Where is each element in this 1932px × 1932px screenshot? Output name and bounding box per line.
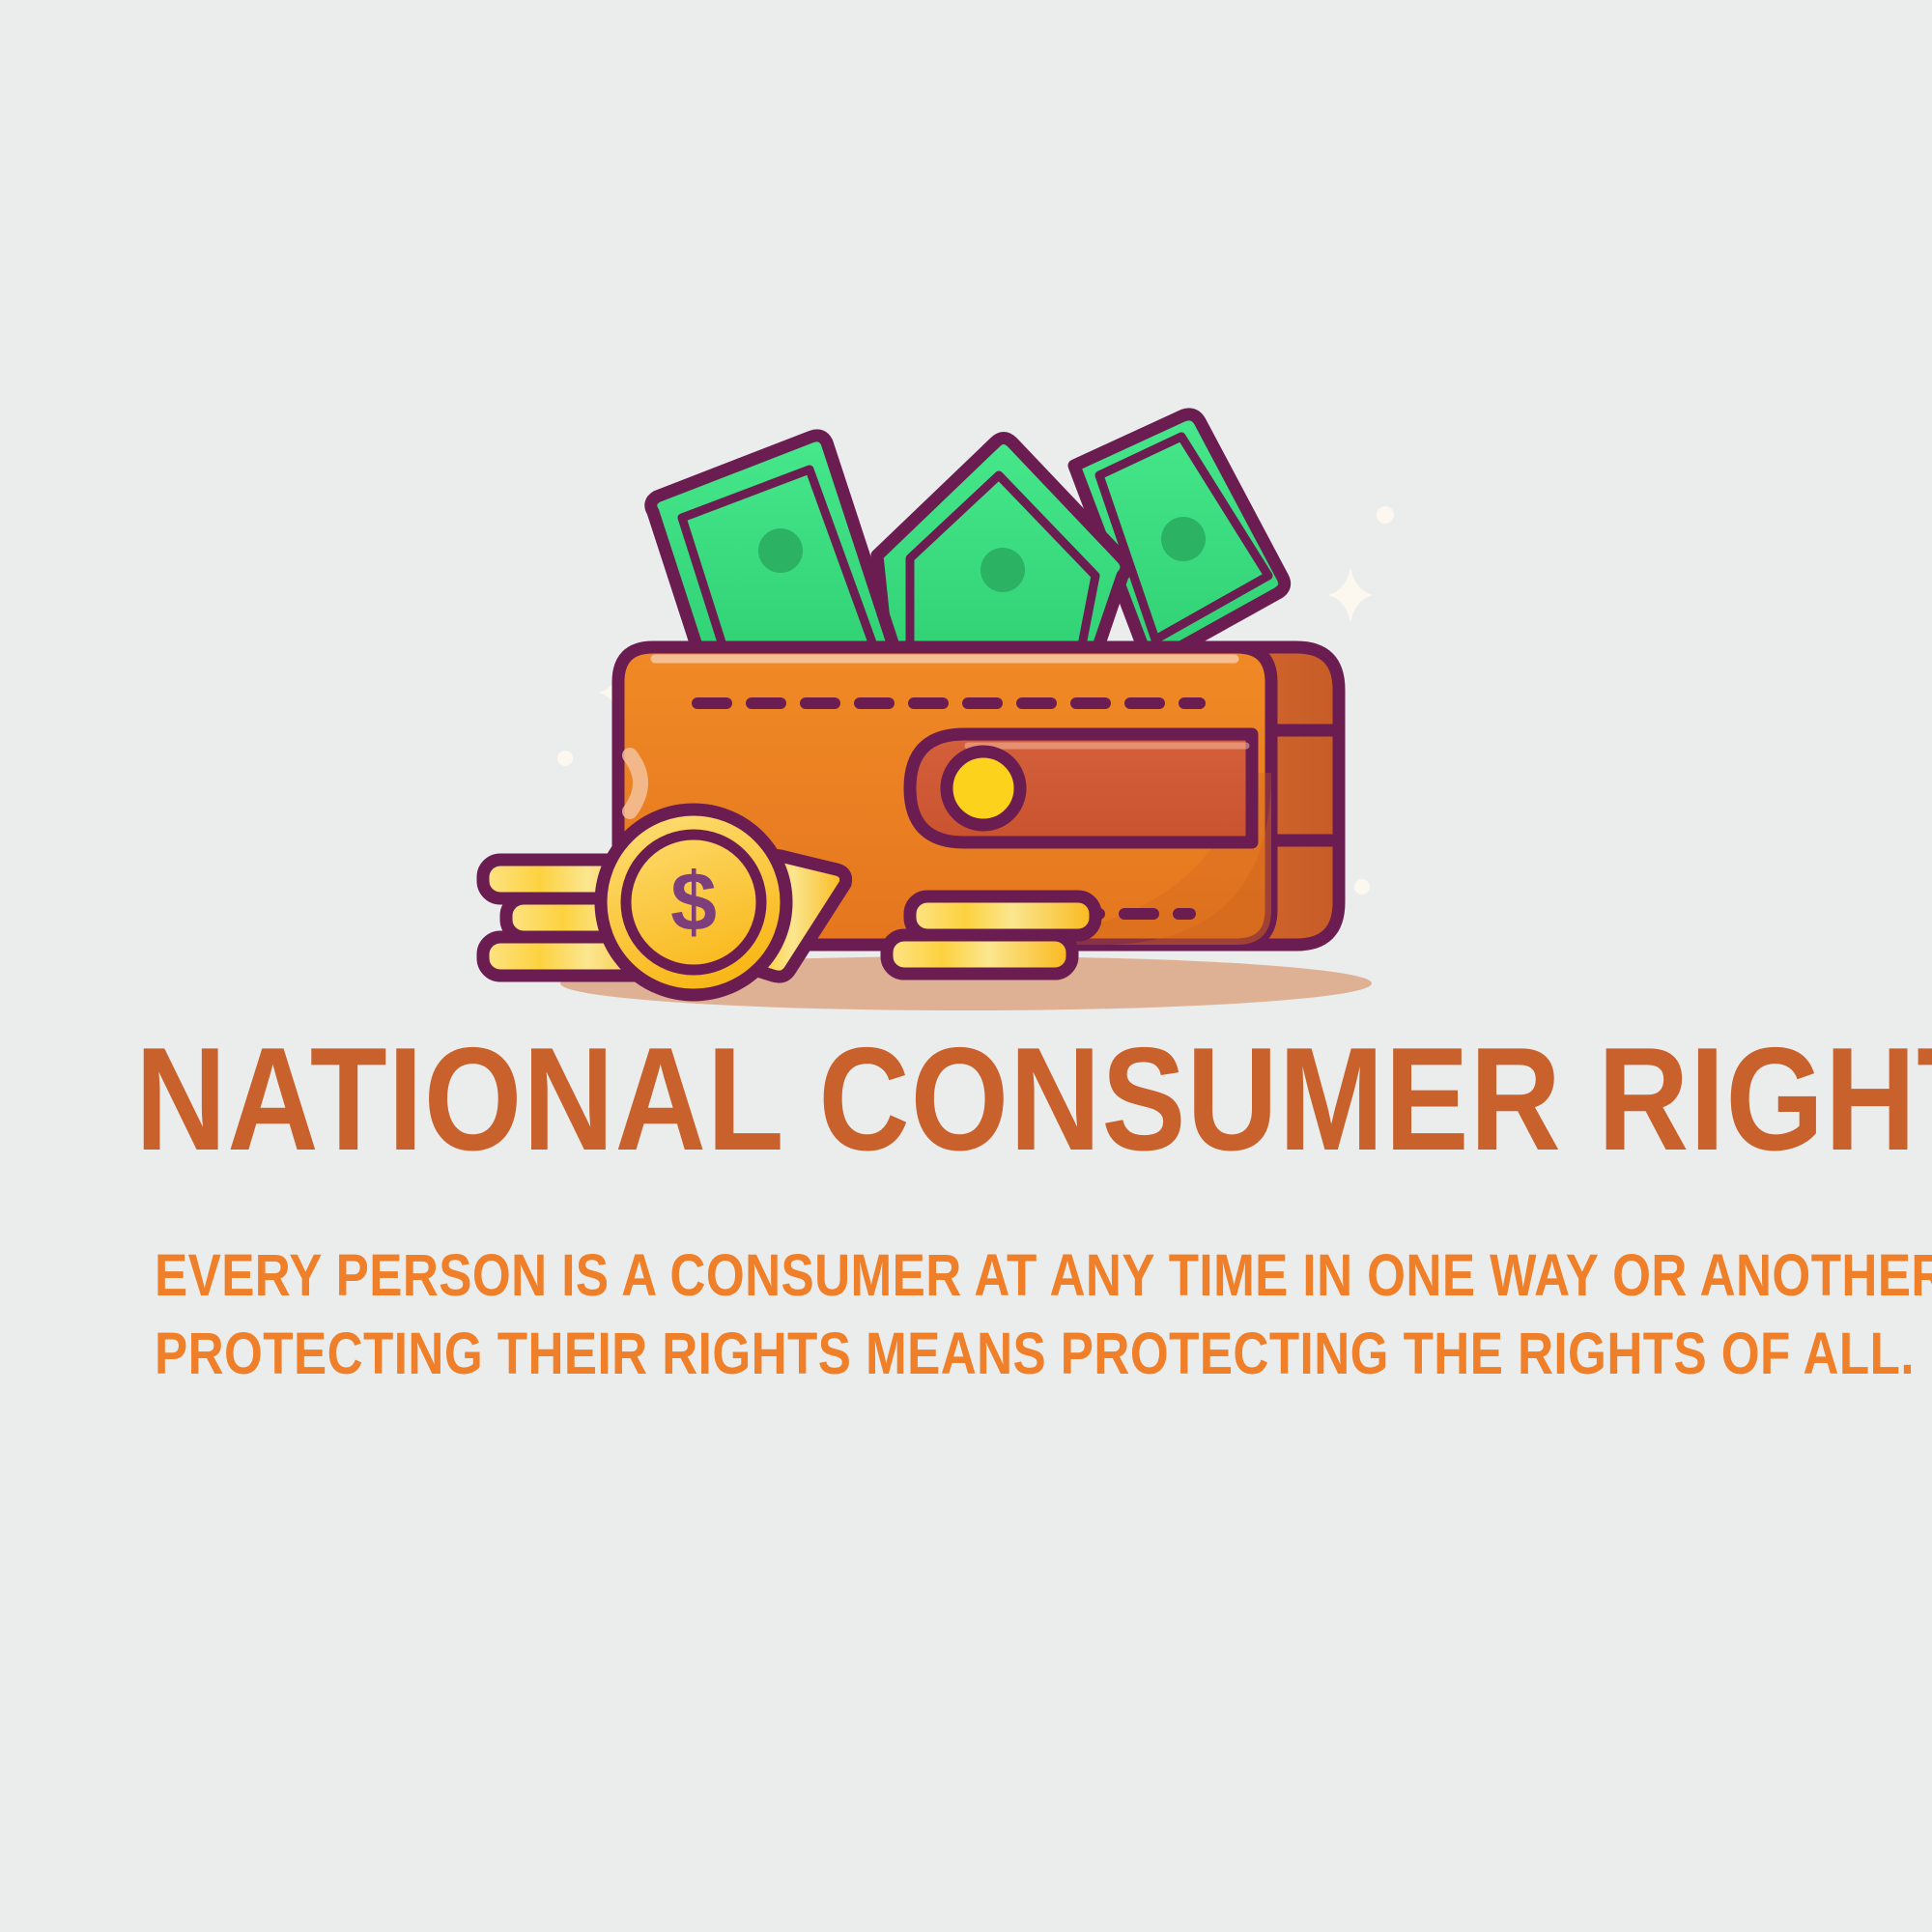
page-subtitle-line-2: PROTECTING THEIR RIGHTS MEANS PROTECTING… xyxy=(155,1315,1777,1393)
coin-stack-right xyxy=(887,896,1095,974)
banknote-left xyxy=(651,436,900,667)
sparkle-dot-1-icon xyxy=(557,751,573,766)
page-title: NATIONAL CONSUMER RIGHTS DAY xyxy=(135,1026,1797,1173)
page-subtitle-line-1: EVERY PERSON IS A CONSUMER AT ANY TIME I… xyxy=(155,1236,1777,1315)
wallet-clasp-button xyxy=(947,752,1020,825)
page-subtitle: EVERY PERSON IS A CONSUMER AT ANY TIME I… xyxy=(155,1173,1777,1392)
poster-text-block: NATIONAL CONSUMER RIGHTS DAY EVERY PERSO… xyxy=(0,1026,1932,1392)
sparkle-dot-3-icon xyxy=(1377,506,1394,524)
wallet-illustration-svg: $ xyxy=(473,386,1459,1024)
poster-canvas: $ NATIONAL CONSUMER RIGHTS DAY EVERY PER… xyxy=(0,0,1932,1932)
wallet-clasp-strap xyxy=(910,734,1252,842)
wallet-illustration: $ xyxy=(0,386,1932,1024)
dollar-sign-icon: $ xyxy=(670,856,717,949)
coin-dollar: $ xyxy=(601,810,786,995)
sparkle-star-right-icon xyxy=(1328,568,1373,622)
sparkle-dot-4-icon xyxy=(1354,879,1370,895)
banknotes-group xyxy=(651,414,1285,667)
